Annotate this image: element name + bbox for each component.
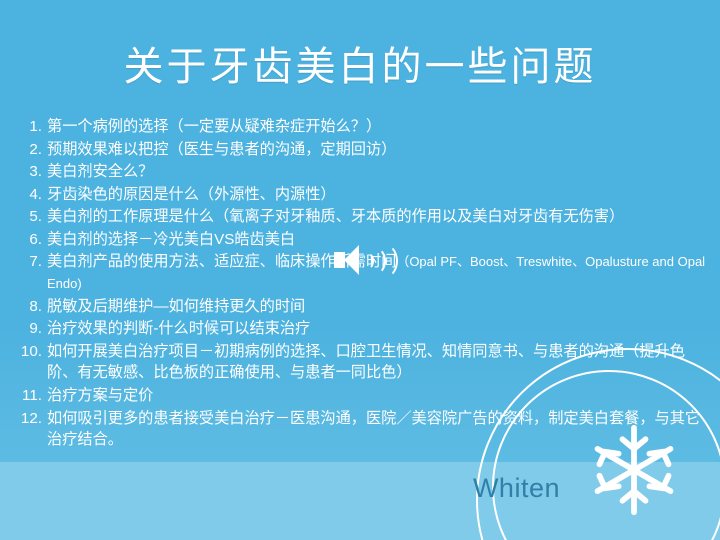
list-item: 11. 治疗方案与定价 xyxy=(16,385,706,407)
page-title: 关于牙齿美白的一些问题 xyxy=(0,34,720,92)
sound-wave-large xyxy=(368,243,398,279)
list-item: 8. 脱敏及后期维护—如何维持更久的时间 xyxy=(16,296,706,318)
speaker-audio-icon[interactable] xyxy=(334,243,392,277)
list-item-number: 7. xyxy=(16,251,47,273)
list-item-number: 11. xyxy=(16,385,47,407)
list-item: 1. 第一个病例的选择（一定要从疑难杂症开始么？） xyxy=(16,116,706,138)
list-item-number: 2. xyxy=(16,139,47,161)
speaker-cone xyxy=(344,245,359,275)
list-item-number: 12. xyxy=(16,408,47,430)
list-item-number: 10. xyxy=(16,341,47,363)
list-item-text: 预期效果难以把控（医生与患者的沟通，定期回访） xyxy=(47,139,706,161)
brand-label: Whiten xyxy=(473,473,560,504)
list-item-number: 3. xyxy=(16,161,47,183)
list-item-text: 如何开展美白治疗项目－初期病例的选择、口腔卫生情况、知情同意书、与患者的沟通（提… xyxy=(47,341,706,384)
list-item-number: 4. xyxy=(16,184,47,206)
list-item-text: 治疗方案与定价 xyxy=(47,385,706,407)
list-item: 3. 美白剂安全么？ xyxy=(16,161,706,183)
list-item-number: 6. xyxy=(16,229,47,251)
list-item-text: 治疗效果的判断-什么时候可以结束治疗 xyxy=(47,318,706,340)
list-item-text: 美白剂的工作原理是什么（氧离子对牙釉质、牙本质的作用以及美白对牙齿有无伤害） xyxy=(47,206,706,228)
list-item: 4. 牙齿染色的原因是什么（外源性、内源性） xyxy=(16,184,706,206)
list-item-number: 9. xyxy=(16,318,47,340)
presentation-slide: Whiten 关于牙齿美白的一些问题 1. 第一个病例的选择（一定要从疑难杂症开… xyxy=(0,0,720,540)
list-item-number: 1. xyxy=(16,116,47,138)
list-item-text: 牙齿染色的原因是什么（外源性、内源性） xyxy=(47,184,706,206)
list-item: 12. 如何吸引更多的患者接受美白治疗－医患沟通，医院／美容院广告的资料，制定美… xyxy=(16,408,706,451)
list-item: 10. 如何开展美白治疗项目－初期病例的选择、口腔卫生情况、知情同意书、与患者的… xyxy=(16,341,706,384)
list-item-number: 5. xyxy=(16,206,47,228)
list-item: 2. 预期效果难以把控（医生与患者的沟通，定期回访） xyxy=(16,139,706,161)
list-item-text: 第一个病例的选择（一定要从疑难杂症开始么？） xyxy=(47,116,706,138)
question-list: 1. 第一个病例的选择（一定要从疑难杂症开始么？） 2. 预期效果难以把控（医生… xyxy=(16,116,706,452)
list-item-number: 8. xyxy=(16,296,47,318)
list-item-text: 脱敏及后期维护—如何维持更久的时间 xyxy=(47,296,706,318)
list-item-text: 美白剂安全么？ xyxy=(47,161,706,183)
list-item-text: 如何吸引更多的患者接受美白治疗－医患沟通，医院／美容院广告的资料，制定美白套餐，… xyxy=(47,408,706,451)
list-item: 5. 美白剂的工作原理是什么（氧离子对牙釉质、牙本质的作用以及美白对牙齿有无伤害… xyxy=(16,206,706,228)
list-item: 9. 治疗效果的判断-什么时候可以结束治疗 xyxy=(16,318,706,340)
